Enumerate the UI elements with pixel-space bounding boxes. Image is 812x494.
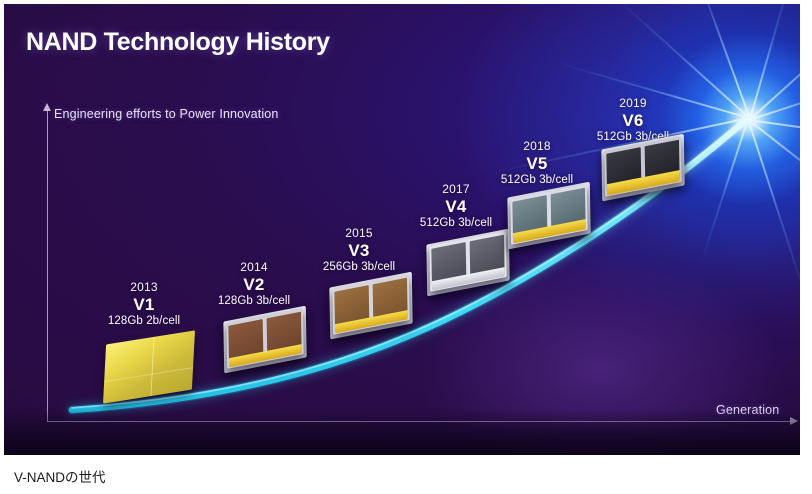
figure-caption: V-NANDの世代 (14, 466, 106, 486)
vignette-overlay (4, 4, 800, 455)
nand-history-figure: NAND Technology History Engineering effo… (0, 0, 812, 494)
bottom-shadow-band (4, 409, 800, 455)
slide-photograph: NAND Technology History Engineering effo… (4, 4, 800, 455)
